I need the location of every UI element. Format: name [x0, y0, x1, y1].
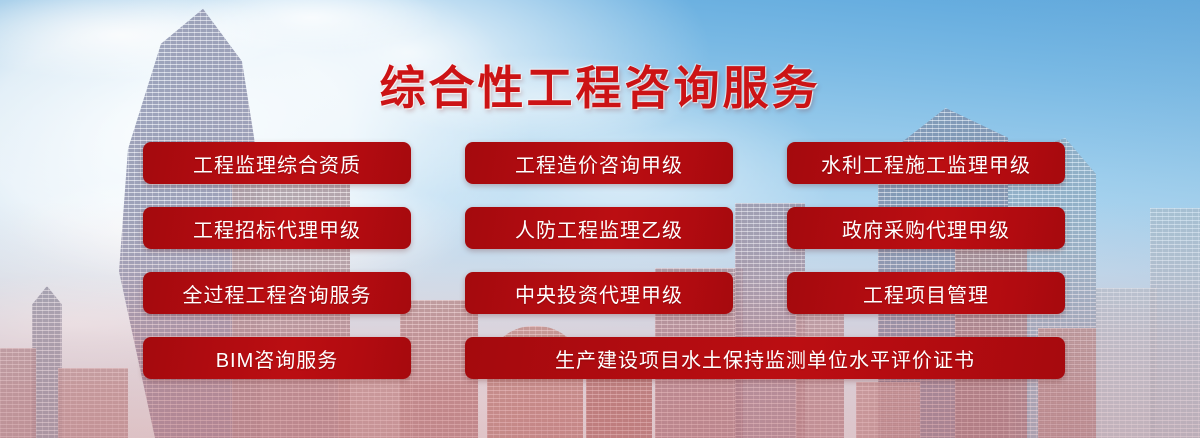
badge-central-investment-agency-grade-a[interactable]: 中央投资代理甲级 — [465, 272, 733, 314]
badge-government-procurement-agency-grade-a[interactable]: 政府采购代理甲级 — [787, 207, 1065, 249]
badge-civil-air-defense-supervision-grade-b[interactable]: 人防工程监理乙级 — [465, 207, 733, 249]
badge-engineering-project-management[interactable]: 工程项目管理 — [787, 272, 1065, 314]
badge-engineering-bidding-agency-grade-a[interactable]: 工程招标代理甲级 — [143, 207, 411, 249]
qualifications-banner: 综合性工程咨询服务 工程监理综合资质 工程造价咨询甲级 水利工程施工监理甲级 工… — [0, 0, 1200, 438]
page-title: 综合性工程咨询服务 — [0, 52, 1200, 118]
badge-water-conservancy-construction-supervision-grade-a[interactable]: 水利工程施工监理甲级 — [787, 142, 1065, 184]
badge-engineering-supervision-comprehensive[interactable]: 工程监理综合资质 — [143, 142, 411, 184]
badge-whole-process-engineering-consulting[interactable]: 全过程工程咨询服务 — [143, 272, 411, 314]
qualification-row-1: 工程监理综合资质 工程造价咨询甲级 水利工程施工监理甲级 — [0, 142, 1200, 207]
badge-bim-consulting-service[interactable]: BIM咨询服务 — [143, 337, 411, 379]
badge-engineering-cost-consulting-grade-a[interactable]: 工程造价咨询甲级 — [465, 142, 733, 184]
badge-soil-water-conservation-monitoring-certificate[interactable]: 生产建设项目水土保持监测单位水平评价证书 — [465, 337, 1065, 379]
qualification-row-4: BIM咨询服务 生产建设项目水土保持监测单位水平评价证书 — [0, 337, 1200, 402]
qualification-row-3: 全过程工程咨询服务 中央投资代理甲级 工程项目管理 — [0, 272, 1200, 337]
qualification-row-2: 工程招标代理甲级 人防工程监理乙级 政府采购代理甲级 — [0, 207, 1200, 272]
banner-content: 综合性工程咨询服务 工程监理综合资质 工程造价咨询甲级 水利工程施工监理甲级 工… — [0, 0, 1200, 438]
qualification-badge-grid: 工程监理综合资质 工程造价咨询甲级 水利工程施工监理甲级 工程招标代理甲级 人防… — [0, 142, 1200, 402]
